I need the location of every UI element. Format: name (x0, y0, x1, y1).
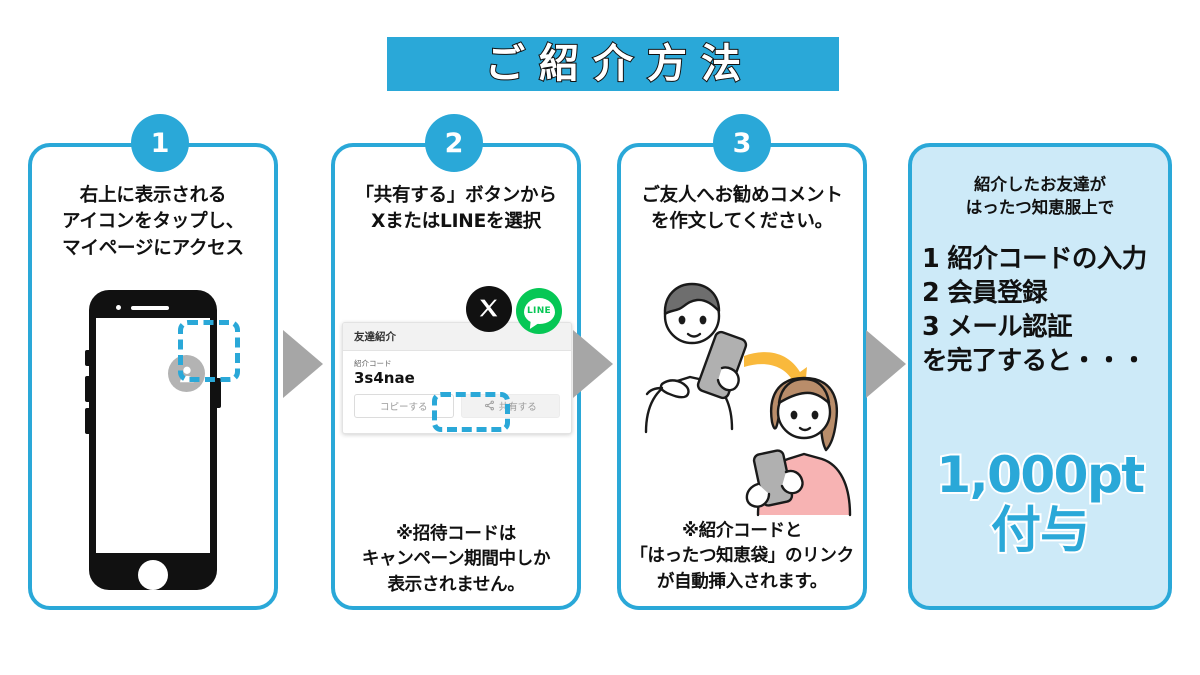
connector-arrow-3 (866, 330, 906, 398)
connector-arrow-2 (573, 330, 613, 398)
infographic-root: ご紹介方法 1 右上に表示される アイコンをタップし、 マイページにアクセス (0, 0, 1200, 675)
reward-action: 付与 (908, 503, 1172, 558)
step-heading-line: マイページにアクセス (38, 236, 268, 262)
line-bubble: LINE (524, 298, 555, 324)
step-note-2: ※招待コードは キャンペーン期間中しか 表示されません。 (336, 522, 576, 598)
step-badge-3: 3 (713, 114, 771, 172)
list-item: 1 紹介コードの入力 (922, 243, 1174, 277)
phone-speaker-icon (131, 306, 169, 310)
step-note-3: ※紹介コードと 「はったつ知恵袋」のリンク が自動挿入されます。 (618, 519, 866, 595)
title-banner: ご紹介方法 (387, 37, 839, 91)
step-note-line: キャンペーン期間中しか (336, 547, 576, 572)
line-label: LINE (527, 306, 551, 316)
page-title: ご紹介方法 (471, 44, 755, 84)
step-heading-1: 右上に表示される アイコンをタップし、 マイページにアクセス (38, 183, 268, 262)
phone-power-button (217, 378, 221, 408)
step-note-line: 表示されません。 (336, 573, 576, 598)
phone-volume-up-button (85, 376, 89, 402)
result-requirement-list: 1 紹介コードの入力 2 会員登録 3 メール認証 を完了すると・・・ (922, 243, 1174, 379)
phone-volume-down-button (85, 408, 89, 434)
avatar-highlight-box (178, 320, 240, 382)
list-item: 3 メール認証 (922, 311, 1174, 345)
step-heading-line: を作文してください。 (620, 209, 864, 235)
step-badge-1: 1 (131, 114, 189, 172)
reward-amount: 1,000pt (908, 448, 1172, 503)
step-heading-2: 「共有する」ボタンから XまたはLINEを選択 (336, 183, 576, 236)
step-note-line: ※紹介コードと (618, 519, 866, 544)
phone-mute-button (85, 350, 89, 366)
result-heading: 紹介したお友達が はったつ知恵服上で (916, 173, 1164, 220)
step-heading-3: ご友人へお勧めコメント を作文してください。 (620, 183, 864, 236)
step-heading-line: XまたはLINEを選択 (336, 209, 576, 235)
list-item: 2 会員登録 (922, 277, 1174, 311)
step-note-line: ※招待コードは (336, 522, 576, 547)
step-badge-2: 2 (425, 114, 483, 172)
step-note-line: 「はったつ知恵袋」のリンク (618, 544, 866, 569)
referral-code-label: 紹介コード (354, 360, 560, 368)
referral-code-value: 3s4nae (354, 371, 560, 386)
people-sharing-illustration (640, 272, 880, 517)
step-heading-line: アイコンをタップし、 (38, 209, 268, 235)
result-heading-line: 紹介したお友達が (916, 173, 1164, 196)
line-icon[interactable]: LINE (516, 288, 562, 334)
connector-arrow-1 (283, 330, 323, 398)
result-heading-line: はったつ知恵服上で (916, 196, 1164, 219)
step-heading-line: 右上に表示される (38, 183, 268, 209)
step-note-line: が自動挿入されます。 (618, 570, 866, 595)
phone-home-button (138, 560, 168, 590)
phone-camera-icon (116, 305, 121, 310)
reward-callout: 1,000pt 付与 (908, 448, 1172, 558)
x-icon[interactable] (466, 286, 512, 332)
step-heading-line: 「共有する」ボタンから (336, 183, 576, 209)
list-item: を完了すると・・・ (922, 345, 1174, 379)
step-heading-line: ご友人へお勧めコメント (620, 183, 864, 209)
share-button-highlight-box (432, 392, 510, 432)
